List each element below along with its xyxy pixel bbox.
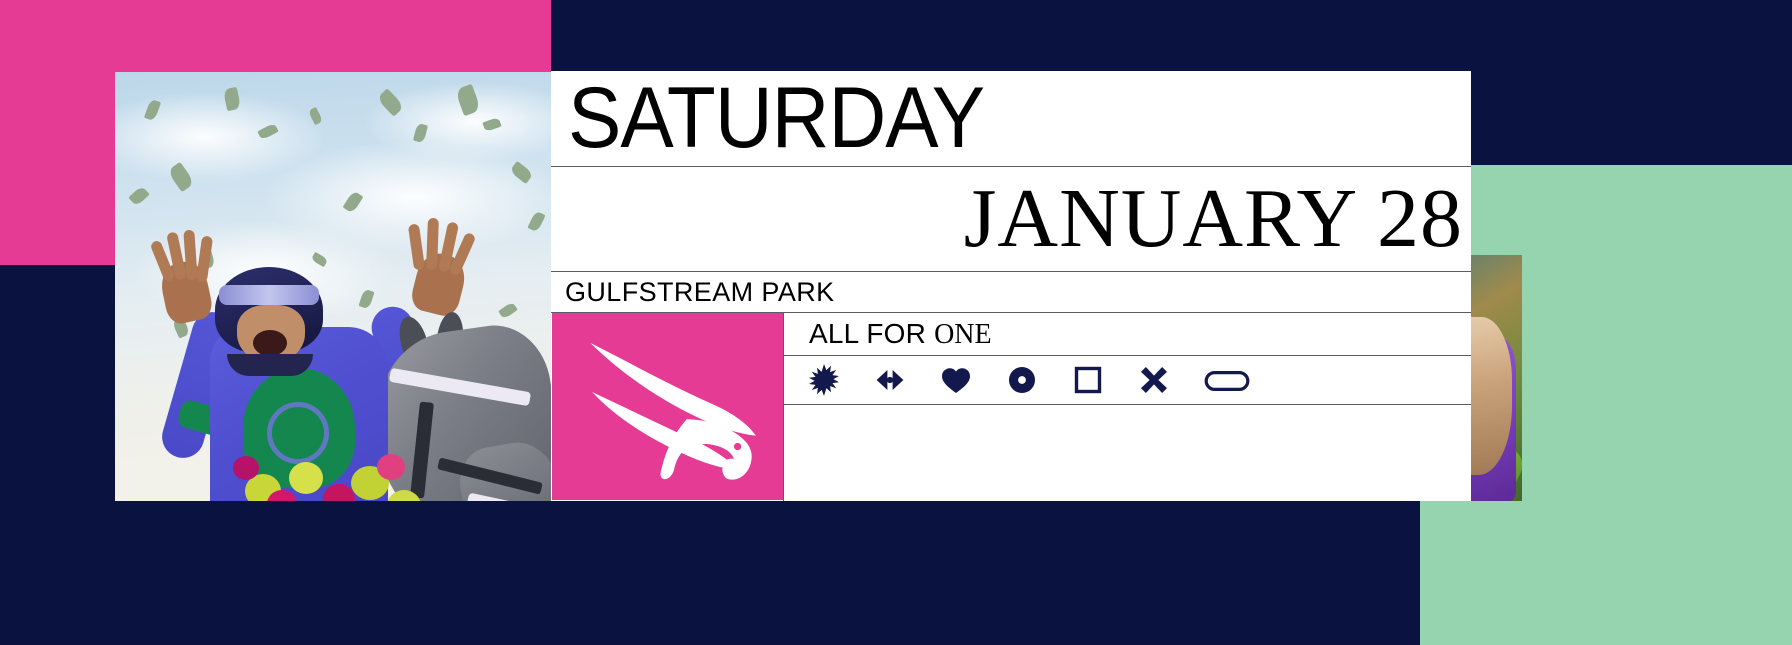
jockey-celebration-photo	[115, 72, 552, 501]
square-icon	[1072, 364, 1104, 396]
event-info-card: SATURDAY JANUARY 28 GULFSTREAM PARK ALL …	[551, 71, 1471, 501]
symbol-row	[784, 356, 1471, 404]
tagline-label: ALL FOR ONE	[809, 318, 992, 351]
divider-rule-5	[784, 404, 1471, 405]
pill-icon	[1204, 364, 1250, 396]
day-row: SATURDAY	[551, 71, 1471, 166]
tagline-serif-part: ONE	[934, 319, 992, 350]
starburst-icon	[808, 364, 840, 396]
poster-canvas: SATURDAY JANUARY 28 GULFSTREAM PARK ALL …	[0, 0, 1792, 645]
pegasus-logo-tile	[552, 313, 784, 500]
x-mark-icon	[1138, 364, 1170, 396]
date-row: JANUARY 28	[551, 167, 1471, 271]
date-label: JANUARY 28	[964, 177, 1463, 261]
bowtie-icon	[874, 364, 906, 396]
tagline-row: ALL FOR ONE	[784, 313, 1471, 355]
venue-label: GULFSTREAM PARK	[565, 277, 835, 308]
heart-icon	[940, 364, 972, 396]
pegasus-logo-icon	[576, 332, 761, 482]
tagline-sans-part: ALL FOR	[809, 318, 926, 349]
donut-icon	[1006, 364, 1038, 396]
day-label: SATURDAY	[568, 79, 984, 158]
venue-row: GULFSTREAM PARK	[551, 272, 1471, 312]
